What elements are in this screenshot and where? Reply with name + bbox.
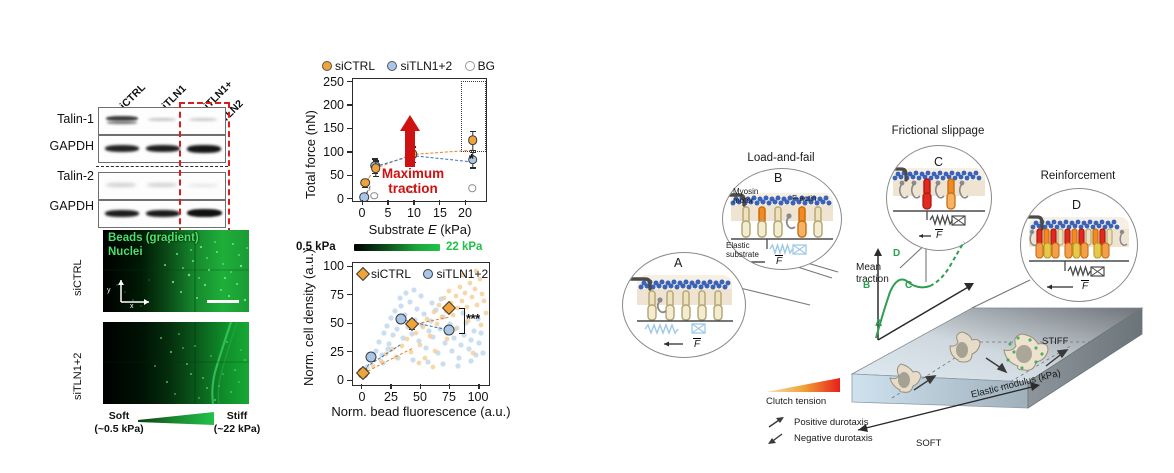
gradient-label-soft-value: (~0.5 kPa) — [94, 423, 143, 435]
legend-item-sitln12-density: siTLN1+2 — [423, 267, 488, 281]
microscopy-caption-nuclei: Nuclei — [108, 246, 143, 258]
colorbar-label-right: 22 kPa — [446, 241, 482, 253]
density-yaxis-label: Norm. cell density (a.u.) — [301, 249, 316, 386]
force-xaxis-label-unit: (kPa) — [440, 222, 471, 237]
maximum-traction-line1: Maximum — [382, 166, 444, 181]
data-point-sitln12-density — [443, 324, 454, 335]
force-xaxis-label: Substrate E (kPa) — [340, 222, 500, 237]
mean-traction-axis-label: Mean traction — [856, 262, 889, 285]
plane-label-stiff: STIFF — [1042, 336, 1068, 347]
density-ytick-25: 25 — [312, 345, 344, 359]
title-load-and-fail: Load-and-fail — [728, 152, 834, 164]
positive-durotaxis-arrow-icon — [766, 415, 786, 429]
density-xtick-25: 25 — [377, 390, 405, 404]
microscopy-image-sitln12 — [103, 322, 249, 404]
legend-label-positive-durotaxis: Positive durotaxis — [794, 417, 868, 428]
total-force-chart: siCTRL siTLN1+2 BG — [300, 58, 495, 233]
title-frictional-slippage: Frictional slippage — [882, 125, 994, 137]
density-xtick-75: 75 — [435, 390, 463, 404]
legend-item-sictrl-density: siCTRL — [358, 267, 411, 281]
significance-marker-density: *** — [466, 311, 480, 326]
density-ytick-100: 100 — [312, 259, 344, 273]
inset-b-force-label: F — [775, 256, 783, 267]
data-point-sictrl — [360, 178, 370, 188]
legend-dot-sitln12-density — [423, 269, 433, 279]
legend-dot-bg — [465, 61, 475, 71]
blot-row-label-gapdh-1: GAPDH — [44, 139, 94, 153]
curve-label-d: D — [893, 248, 900, 259]
density-xtick-50: 50 — [406, 390, 434, 404]
density-xaxis-label: Norm. bead fluorescence (a.u.) — [326, 404, 516, 419]
density-xtick-0: 0 — [348, 390, 376, 404]
microscopy-panel: y x Beads (gradient) Nuclei siCTRL siT — [60, 230, 290, 430]
plane-label-soft: SOFT — [916, 438, 941, 449]
microscopy-row-label-sictrl: siCTRL — [72, 259, 84, 296]
gradient-label-soft: Soft (~0.5 kPa) — [82, 410, 156, 436]
legend-item-sitln12: siTLN1+2 — [387, 59, 452, 73]
maximum-traction-annotation: Maximum traction — [371, 167, 455, 196]
force-plot-area: * Maximum traction — [352, 78, 487, 202]
legend-label-sitln12-density: siTLN1+2 — [436, 267, 488, 281]
axis-label-y: y — [107, 287, 111, 294]
gradient-label-soft-text: Soft — [109, 410, 129, 422]
molecular-clutch-schematic: F A — [600, 40, 1174, 460]
western-blot-panel: siCTRL siTLN1 siTLN1+ siTLN2 Talin-1 GAP… — [96, 56, 316, 226]
force-xaxis-label-symbol: E — [428, 222, 437, 237]
density-ytick-0: 0 — [312, 373, 344, 387]
axis-label-x: x — [130, 303, 134, 310]
gradient-label-stiff: Stiff (~22 kPa) — [200, 410, 274, 436]
legend-diamond-sictrl — [356, 267, 370, 281]
force-xtick-15: 15 — [426, 206, 454, 220]
maximum-traction-line2: traction — [388, 181, 438, 196]
force-xtick-20: 20 — [451, 206, 479, 220]
legend-label-clutch-tension: Clutch tension — [766, 396, 873, 407]
force-yaxis-label: Total force (nN) — [303, 110, 318, 199]
legend-row-positive-durotaxis: Positive durotaxis — [766, 415, 873, 429]
legend-label-sitln12: siTLN1+2 — [400, 59, 452, 73]
inset-b-myosin-label: Myosin motor — [733, 188, 758, 206]
data-point-bg — [468, 184, 476, 192]
legend-row-negative-durotaxis: Negative durotaxis — [766, 431, 873, 445]
microscopy-row-label-sitln12: siTLN1+2 — [72, 353, 84, 400]
schematic-legend: Clutch tension Positive durotaxis Negati… — [766, 378, 873, 433]
gradient-label-stiff-text: Stiff — [227, 410, 247, 422]
data-point-sictrl — [468, 135, 478, 145]
significance-marker: * — [469, 151, 474, 166]
scale-bar — [207, 300, 239, 303]
data-point-sitln12-density — [365, 351, 376, 362]
cell-density-chart: siCTRL siTLN1+2 *** — [298, 258, 494, 418]
blot-highlight-box — [179, 102, 230, 234]
legend-label-sictrl-density: siCTRL — [371, 267, 411, 281]
legend-item-sictrl: siCTRL — [322, 59, 375, 73]
gradient-label-stiff-value: (~22 kPa) — [214, 423, 260, 435]
density-ytick-75: 75 — [312, 288, 344, 302]
clutch-tension-gradient — [766, 378, 844, 394]
legend-item-bg: BG — [465, 59, 495, 73]
inset-c-letter: C — [934, 155, 943, 169]
legend-label-negative-durotaxis: Negative durotaxis — [794, 433, 873, 444]
inset-b-substrate-label: Elastic substrate — [726, 242, 759, 260]
legend-dot-sictrl — [322, 61, 332, 71]
maximum-traction-arrow-shaft — [405, 129, 415, 167]
force-xaxis-label-text: Substrate — [369, 222, 425, 237]
inset-b-letter: B — [774, 171, 782, 185]
legend-label-bg: BG — [478, 59, 495, 73]
colorbar-gradient — [354, 244, 440, 251]
density-plot-area: siCTRL siTLN1+2 *** — [352, 262, 490, 386]
force-ytick-250: 250 — [312, 75, 344, 89]
microscopy-caption-beads: Beads (gradient) — [108, 232, 199, 244]
density-chart-legend: siCTRL siTLN1+2 — [358, 266, 490, 284]
force-chart-legend: siCTRL siTLN1+2 BG — [322, 58, 503, 76]
maximum-traction-arrow-head — [400, 115, 420, 131]
force-xtick-10: 10 — [400, 206, 428, 220]
title-reinforcement: Reinforcement — [1018, 170, 1138, 182]
blot-row-label-gapdh-2: GAPDH — [44, 199, 94, 213]
inset-d-letter: D — [1072, 198, 1081, 212]
legend-label-sictrl: siCTRL — [335, 59, 375, 73]
inset-b-factin-label: F-actin — [792, 195, 816, 204]
blot-row-label-talin1: Talin-1 — [44, 112, 94, 126]
negative-durotaxis-arrow-icon — [766, 431, 786, 445]
density-xtick-100: 100 — [464, 390, 492, 404]
legend-dot-sitln12 — [387, 61, 397, 71]
force-xtick-5: 5 — [374, 206, 402, 220]
force-xtick-0: 0 — [348, 206, 376, 220]
inset-a-force-label: F — [693, 339, 701, 350]
stiffness-colorbar: 0.5 kPa 22 kPa — [296, 240, 496, 256]
significance-bracket — [459, 308, 465, 334]
blot-row-label-talin2: Talin-2 — [44, 169, 94, 183]
inset-a-letter: A — [674, 256, 682, 270]
microscopy-caption: Beads (gradient) Nuclei — [108, 232, 199, 259]
density-ytick-50: 50 — [312, 316, 344, 330]
